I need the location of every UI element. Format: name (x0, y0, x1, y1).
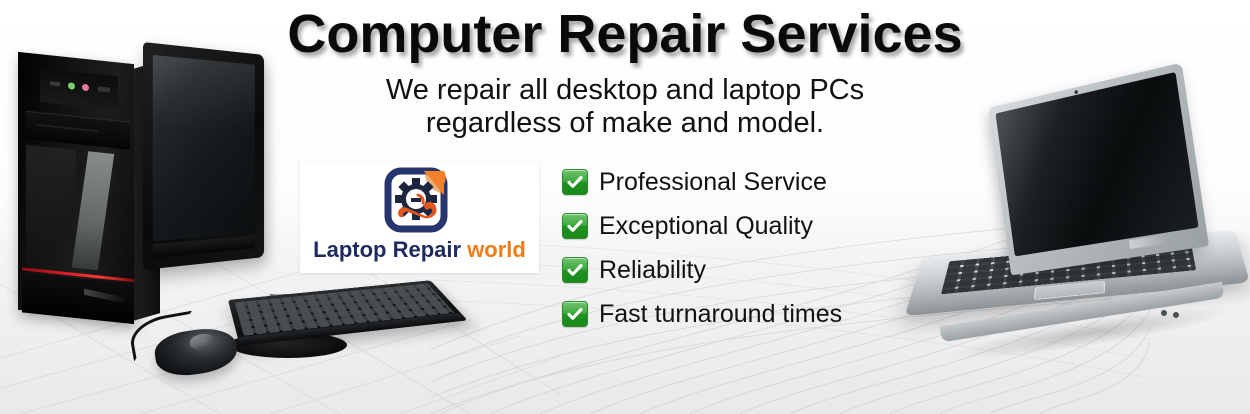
feature-label: Professional Service (599, 168, 827, 196)
green-check-icon (562, 213, 588, 239)
feature-label: Reliability (599, 256, 706, 284)
feature-label: Fast turnaround times (599, 300, 842, 328)
green-check-icon (562, 257, 588, 283)
tower-gloss (26, 145, 76, 270)
green-check-icon (562, 301, 588, 327)
subtitle-line-2: regardless of make and model. (0, 107, 1250, 140)
tower-silver-stripe (72, 151, 115, 270)
laptop-repair-world-logo-card[interactable]: Laptop Repair world (300, 161, 539, 273)
feature-label: Exceptional Quality (599, 212, 813, 240)
logo-wordmark: Laptop Repair world (300, 235, 539, 265)
green-check-icon (562, 169, 588, 195)
gear-wrench-icon (378, 165, 458, 237)
page-title: Computer Repair Services (0, 2, 1250, 66)
logo-word-primary: Laptop Repair (313, 237, 461, 262)
subtitle-line-1: We repair all desktop and laptop PCs (0, 74, 1250, 107)
subtitle: We repair all desktop and laptop PCs reg… (0, 74, 1250, 140)
feature-item: Exceptional Quality (562, 207, 922, 244)
feature-item: Fast turnaround times (562, 295, 922, 332)
feature-item: Professional Service (562, 163, 922, 200)
computer-repair-banner: Computer Repair Services We repair all d… (0, 0, 1250, 414)
logo-word-accent: world (467, 237, 526, 262)
feature-item: Reliability (562, 251, 922, 288)
feature-list: Professional Service Exceptional Quality… (562, 163, 922, 339)
